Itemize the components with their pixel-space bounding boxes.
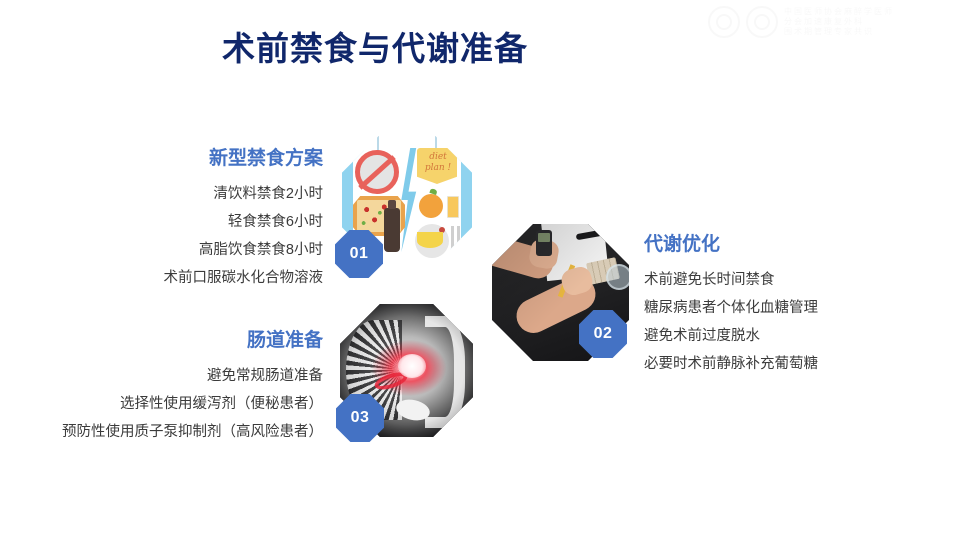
section-02-heading: 代谢优化 (644, 232, 944, 258)
watermark-line-1: 中国医师协会麻醉学医师 (784, 7, 894, 17)
section-01-text: 新型禁食方案 清饮料禁食2小时 轻食禁食6小时 高脂饮食禁食8小时 术前口服碳水… (23, 146, 323, 292)
cutlery-icon (451, 226, 463, 254)
diet-note-text: diet plan ! (419, 152, 457, 174)
section-01-list: 清饮料禁食2小时 轻食禁食6小时 高脂饮食禁食8小时 术前口服碳水化合物溶液 (23, 180, 323, 292)
watermark-line-3: 围术期管理专家共识 (784, 27, 894, 37)
juice-glass-icon (447, 196, 459, 218)
watermark-text: 中国医师协会麻醉学医师 分会加速康复外科 围术期管理专家共识 (784, 7, 894, 37)
bottle-icon (384, 208, 400, 252)
watermark-line-2: 分会加速康复外科 (784, 17, 894, 27)
section-01-heading: 新型禁食方案 (23, 146, 323, 172)
section-01-number-badge: 01 (335, 230, 383, 278)
list-item: 清饮料禁食2小时 (23, 180, 323, 208)
list-item: 避免常规肠道准备 (23, 362, 323, 390)
section-02-number-badge: 02 (579, 310, 627, 358)
section-02-text: 代谢优化 术前避免长时间禁食 糖尿病患者个体化血糖管理 避免术前过度脱水 必要时… (644, 232, 944, 378)
list-item: 术前口服碳水化合物溶液 (23, 264, 323, 292)
section-02-list: 术前避免长时间禁食 糖尿病患者个体化血糖管理 避免术前过度脱水 必要时术前静脉补… (644, 266, 944, 378)
list-item: 轻食禁食6小时 (23, 208, 323, 236)
page-title: 术前禁食与代谢准备 (0, 22, 750, 70)
list-item: 必要时术前静脉补充葡萄糖 (644, 350, 944, 378)
banana-icon (417, 232, 443, 248)
orange-icon (419, 194, 443, 218)
section-03-text: 肠道准备 避免常规肠道准备 选择性使用缓泻剂（便秘患者） 预防性使用质子泵抑制剂… (23, 328, 323, 446)
section-03-list: 避免常规肠道准备 选择性使用缓泻剂（便秘患者） 预防性使用质子泵抑制剂（高风险患… (23, 362, 323, 446)
list-item: 糖尿病患者个体化血糖管理 (644, 294, 944, 322)
list-item: 高脂饮食禁食8小时 (23, 236, 323, 264)
list-item: 预防性使用质子泵抑制剂（高风险患者） (23, 418, 323, 446)
section-03-heading: 肠道准备 (23, 328, 323, 354)
list-item: 避免术前过度脱水 (644, 322, 944, 350)
list-item: 选择性使用缓泻剂（便秘患者） (23, 390, 323, 418)
list-item: 术前避免长时间禁食 (644, 266, 944, 294)
seal-icon-secondary (746, 6, 778, 38)
section-03-number-badge: 03 (336, 394, 384, 442)
slide-canvas: 中国医师协会麻醉学医师 分会加速康复外科 围术期管理专家共识 术前禁食与代谢准备… (0, 0, 960, 540)
